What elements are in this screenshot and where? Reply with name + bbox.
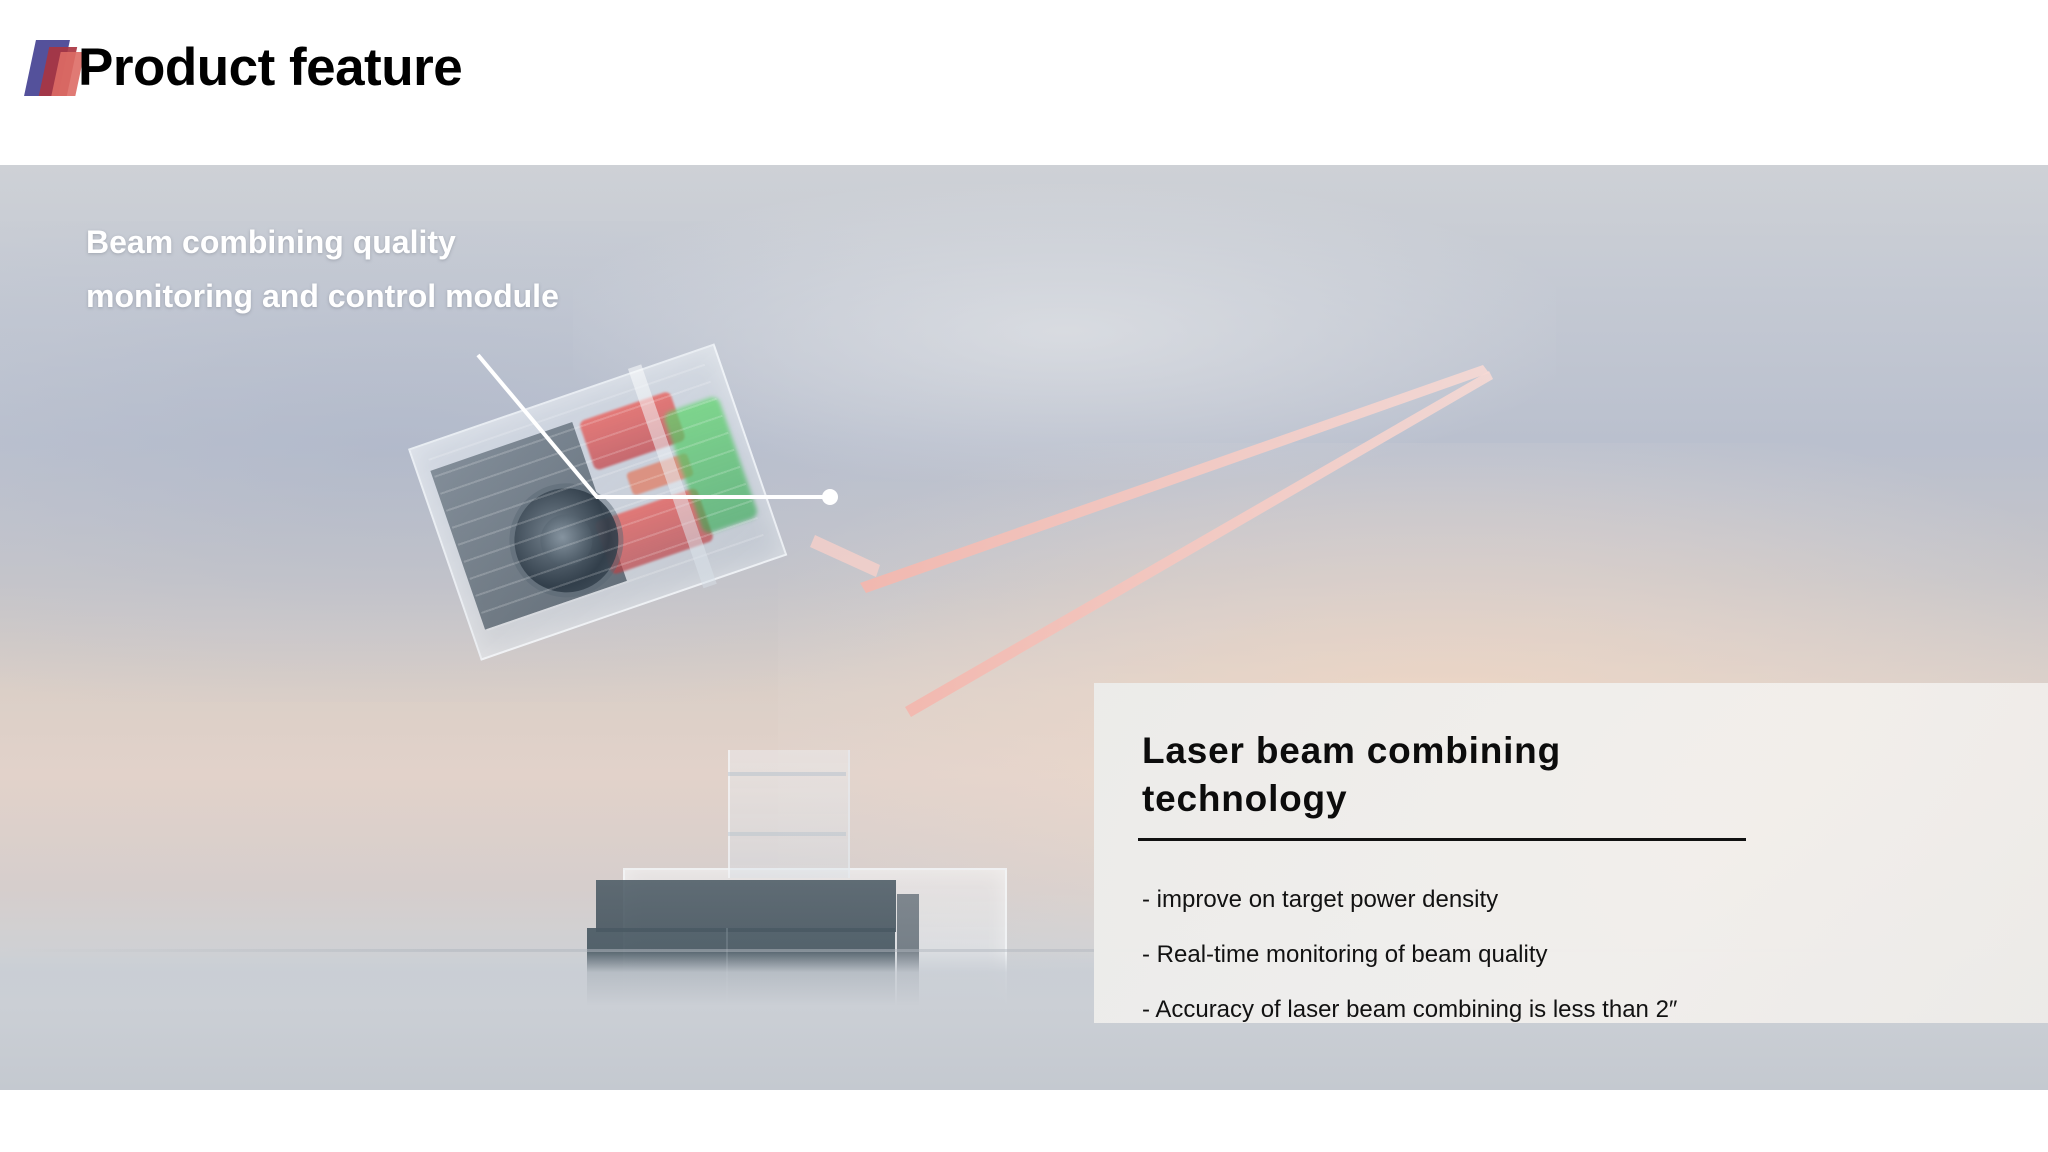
overlay-subtitle: Beam combining quality monitoring and co… xyxy=(86,215,559,323)
slide: Product feature xyxy=(0,0,2048,1152)
page-title: Product feature xyxy=(78,33,462,103)
overlay-subtitle-line-1: Beam combining quality xyxy=(86,215,559,269)
callout-line xyxy=(478,355,830,497)
list-item: - Real-time monitoring of beam quality xyxy=(1142,940,2002,970)
brand-logo-icon xyxy=(22,40,84,96)
overlay-subtitle-line-2: monitoring and control module xyxy=(86,269,559,323)
info-panel-heading: Laser beam combining technology xyxy=(1142,727,1762,823)
list-item: - improve on target power density xyxy=(1142,885,2002,915)
info-panel-bullet-list: - improve on target power density - Real… xyxy=(1142,885,2002,1050)
slide-header: Product feature xyxy=(0,0,2048,165)
callout-dot-icon xyxy=(822,489,838,505)
info-panel-divider xyxy=(1138,838,1746,841)
list-item: - Accuracy of laser beam combining is le… xyxy=(1142,995,2002,1025)
info-panel: Laser beam combining technology - improv… xyxy=(1094,683,2048,1023)
